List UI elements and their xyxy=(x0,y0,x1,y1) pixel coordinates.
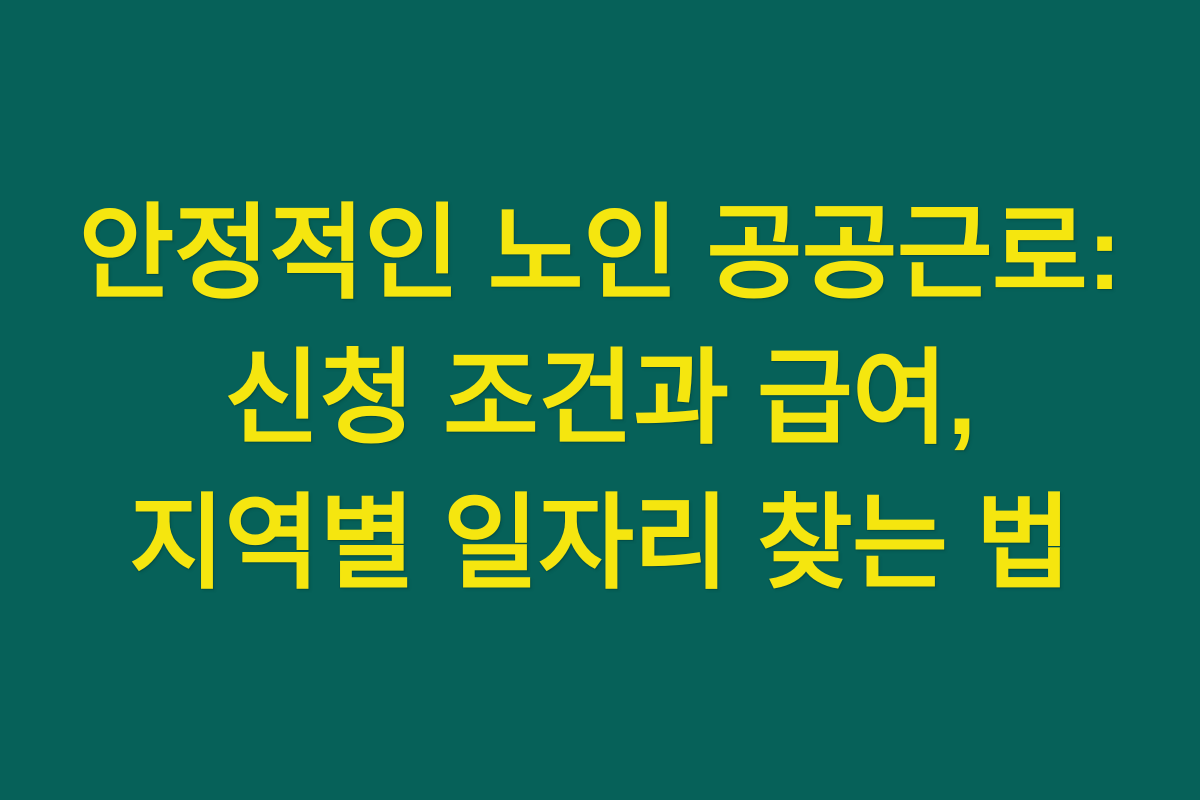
title-line-3: 지역별 일자리 찾는 법 xyxy=(14,472,1186,617)
banner-canvas: 안정적인 노인 공공근로: 신청 조건과 급여, 지역별 일자리 찾는 법 xyxy=(0,0,1200,800)
title-line-2: 신청 조건과 급여, xyxy=(14,327,1186,472)
title-line-1: 안정적인 노인 공공근로: xyxy=(14,182,1186,327)
page-title: 안정적인 노인 공공근로: 신청 조건과 급여, 지역별 일자리 찾는 법 xyxy=(0,182,1200,617)
